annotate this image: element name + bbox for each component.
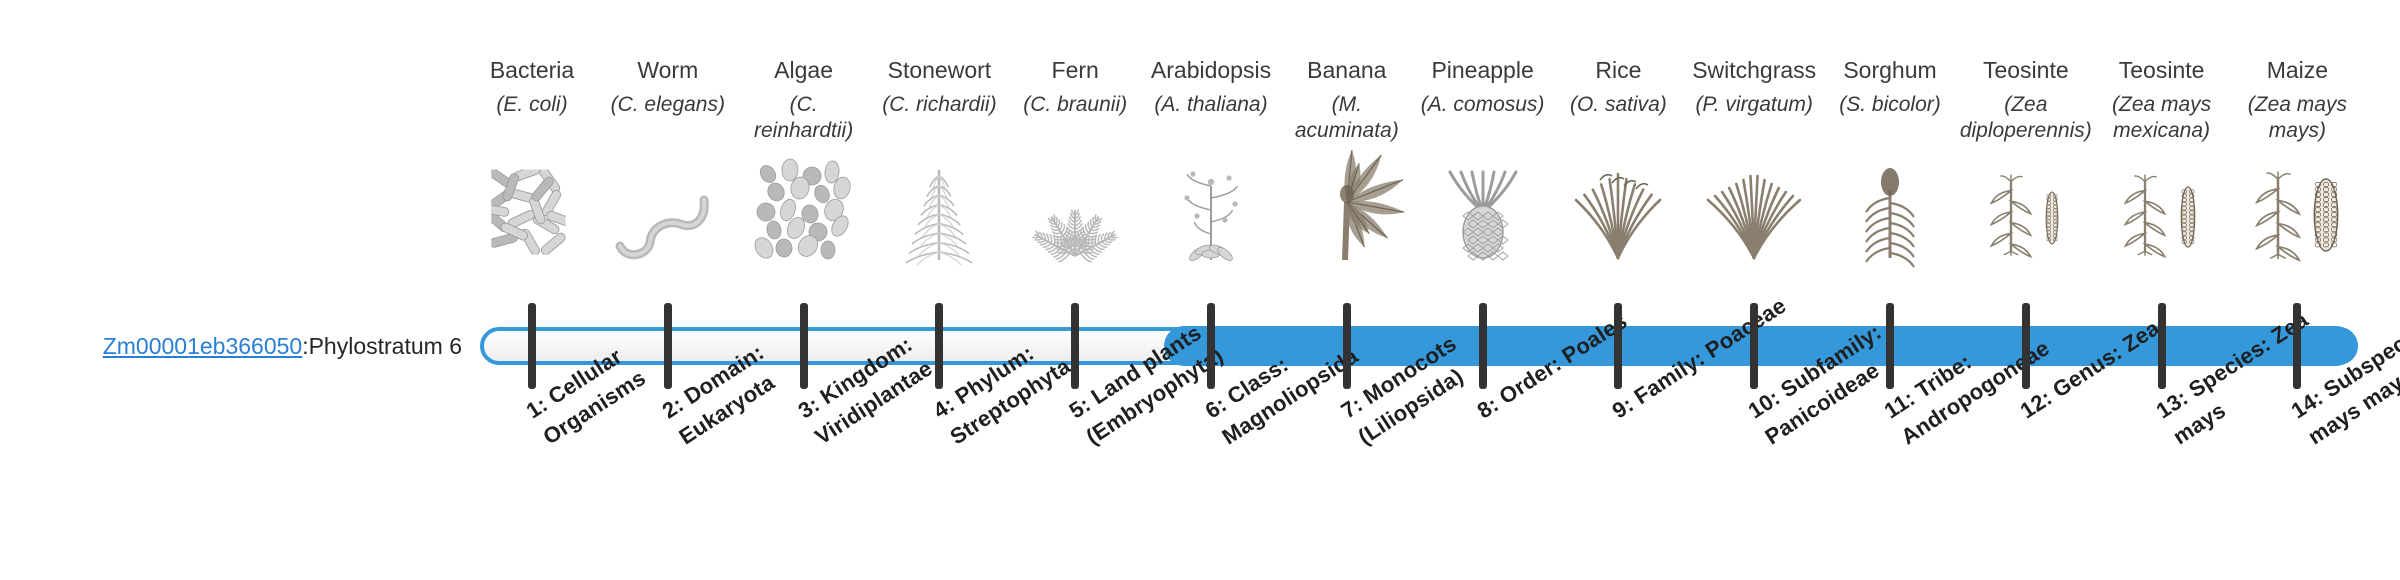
species-common-name: Fern (1000, 56, 1150, 84)
species-common-name: Teosinte (2087, 56, 2237, 84)
species-scientific-name: (Zea mays mexicana) (2082, 92, 2242, 144)
stratum-tick-4[interactable] (935, 303, 943, 389)
species-scientific-name: (C. braunii) (1009, 92, 1141, 118)
stratum-tick-5[interactable] (1071, 303, 1079, 389)
stratum-tick-10[interactable] (1750, 303, 1758, 389)
stratum-tick-9[interactable] (1614, 303, 1622, 389)
species-scientific-name: (Zea mays mays) (2231, 92, 2363, 144)
rice-illustration (1553, 168, 1683, 260)
nematode-illustration (603, 168, 733, 260)
stratum-tick-11[interactable] (1886, 303, 1894, 389)
species-common-name: Teosinte (1951, 56, 2101, 84)
species-common-name: Pineapple (1408, 56, 1558, 84)
bacteria-illustration (467, 168, 597, 260)
species-scientific-name: (O. sativa) (1552, 92, 1684, 118)
maize-illustration (2232, 168, 2362, 260)
sorghum-illustration (1825, 168, 1955, 260)
stratum-tick-2[interactable] (664, 303, 672, 389)
phylostratum-value: Phylostratum 6 (309, 333, 462, 360)
species-scientific-name: (A. comosus) (1417, 92, 1549, 118)
species-common-name: Arabidopsis (1136, 56, 1286, 84)
species-scientific-name: (A. thaliana) (1145, 92, 1277, 118)
species-common-name: Banana (1272, 56, 1422, 84)
fern-illustration (1010, 168, 1140, 260)
stratum-tick-7[interactable] (1343, 303, 1351, 389)
phylostratum-figure: Zm00001eb366050: Phylostratum 6 Bacteria… (0, 0, 2400, 580)
stonewort-illustration (874, 168, 1004, 260)
species-scientific-name: (E. coli) (466, 92, 598, 118)
species-scientific-name: (M. acuminata) (1281, 92, 1413, 144)
switchgrass-illustration (1689, 168, 1819, 260)
stratum-tick-3[interactable] (800, 303, 808, 389)
stratum-tick-6[interactable] (1207, 303, 1215, 389)
species-scientific-name: (P. virgatum) (1688, 92, 1820, 118)
stratum-tick-8[interactable] (1479, 303, 1487, 389)
teosinte-mexicana-illustration (2097, 168, 2227, 260)
species-common-name: Rice (1543, 56, 1693, 84)
species-common-name: Switchgrass (1679, 56, 1829, 84)
species-scientific-name: (C. elegans) (602, 92, 734, 118)
species-common-name: Algae (729, 56, 879, 84)
stratum-tick-1[interactable] (528, 303, 536, 389)
algae-illustration (739, 168, 869, 260)
species-scientific-name: (S. bicolor) (1824, 92, 1956, 118)
stratum-tick-13[interactable] (2158, 303, 2166, 389)
species-common-name: Maize (2222, 56, 2372, 84)
species-scientific-name: (C. richardii) (873, 92, 1005, 118)
species-common-name: Sorghum (1815, 56, 1965, 84)
stratum-tick-14[interactable] (2293, 303, 2301, 389)
teosinte-diploperennis-illustration (1961, 168, 2091, 260)
species-scientific-name: (C. reinhardtii) (738, 92, 870, 144)
pineapple-illustration (1418, 168, 1548, 260)
gene-id-link[interactable]: Zm00001eb366050 (103, 333, 303, 360)
banana-illustration (1282, 168, 1412, 260)
species-common-name: Worm (593, 56, 743, 84)
gene-phylostratum-label: Zm00001eb366050: Phylostratum 6 (0, 327, 470, 365)
species-common-name: Stonewort (864, 56, 1014, 84)
arabidopsis-illustration (1146, 168, 1276, 260)
stratum-tick-12[interactable] (2022, 303, 2030, 389)
species-common-name: Bacteria (457, 56, 607, 84)
